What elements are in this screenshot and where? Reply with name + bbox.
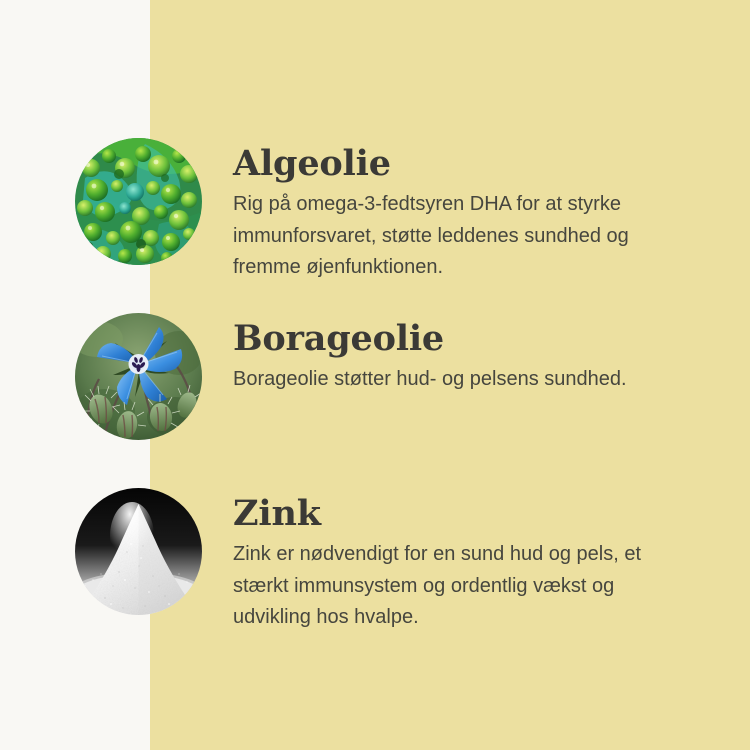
zink-copy-block: Zink Zink er nødvendigt for en sund hud …	[233, 492, 703, 634]
ingredient-heading-algeolie: Algeolie	[233, 142, 703, 186]
algae-oil-thumbnail-wrap	[75, 138, 202, 265]
algeolie-copy-block: Algeolie Rig på omega-3-fedtsyren DHA fo…	[233, 142, 703, 284]
algae-oil-thumbnail	[75, 138, 202, 265]
ingredient-list-page: Algeolie Rig på omega-3-fedtsyren DHA fo…	[0, 0, 750, 750]
ingredient-description-zink: Zink er nødvendigt for en sund hud og pe…	[233, 539, 688, 634]
zinc-powder-thumbnail-wrap	[75, 488, 202, 615]
borage-oil-thumbnail	[75, 313, 202, 440]
ingredient-heading-borageolie: Borageolie	[233, 317, 703, 361]
borageolie-copy-block: Borageolie Borageolie støtter hud- og pe…	[233, 317, 703, 396]
borage-oil-thumbnail-wrap	[75, 313, 202, 440]
ingredient-description-borageolie: Borageolie støtter hud- og pelsens sundh…	[233, 364, 688, 396]
ingredient-description-algeolie: Rig på omega-3-fedtsyren DHA for at styr…	[233, 189, 688, 284]
ingredient-heading-zink: Zink	[233, 492, 703, 536]
zinc-powder-thumbnail	[75, 488, 202, 615]
